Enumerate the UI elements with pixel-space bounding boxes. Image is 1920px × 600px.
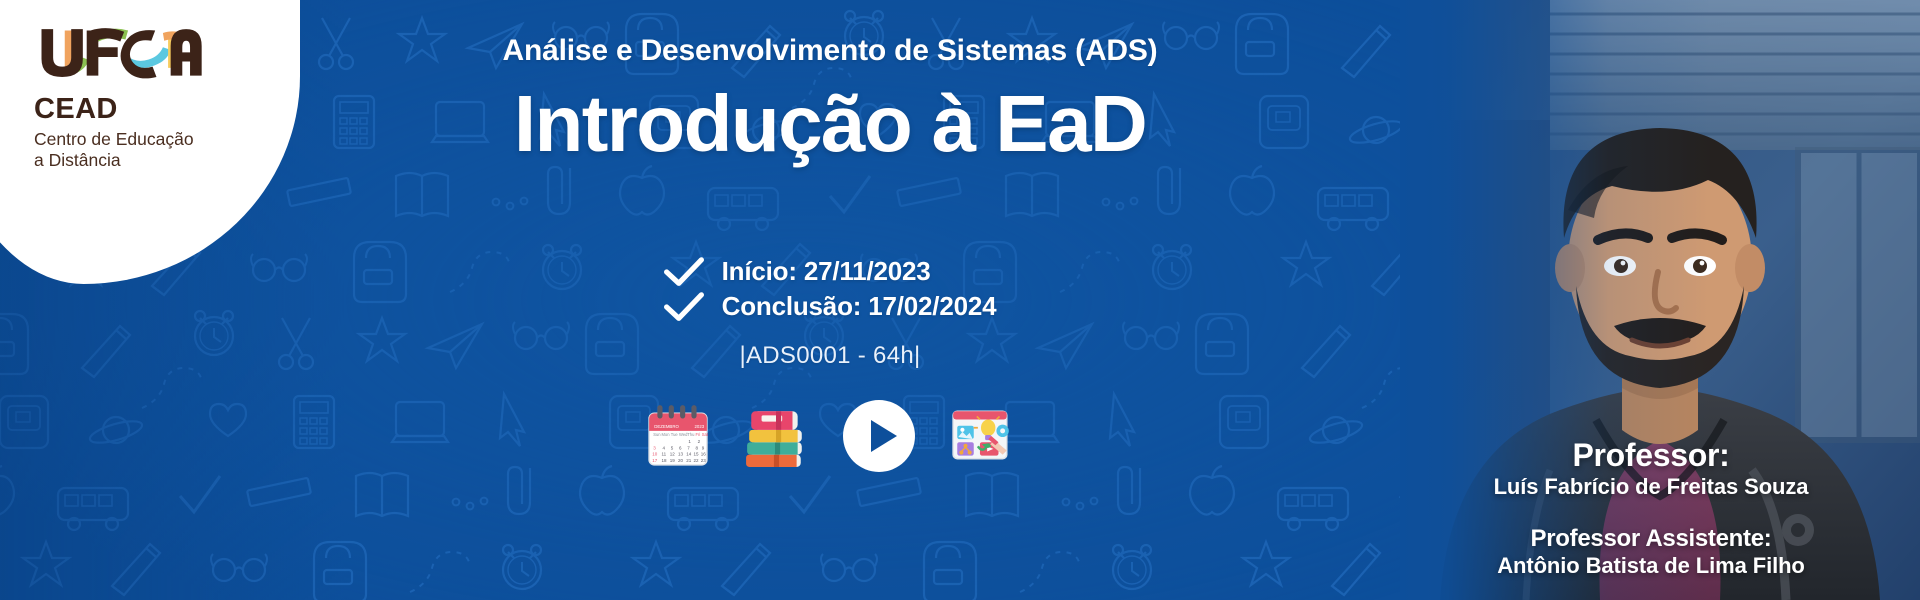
svg-text:Thu: Thu xyxy=(687,432,695,437)
svg-text:Tue: Tue xyxy=(671,432,679,437)
cead-acronym: CEAD xyxy=(34,95,254,124)
course-banner: CEAD Centro de Educação a Distância Anál… xyxy=(0,0,1920,600)
assistant-role-label: Professor Assistente: xyxy=(1400,526,1902,551)
end-date-label: Conclusão: 17/02/2024 xyxy=(722,291,997,322)
schedule-row-end: Conclusão: 17/02/2024 xyxy=(664,291,997,322)
books-icon xyxy=(743,403,809,469)
presentation-board-icon xyxy=(949,403,1015,469)
course-info-column: Análise e Desenvolvimento de Sistemas (A… xyxy=(300,0,1360,600)
professor-photo-panel: Professor: Luís Fabrício de Freitas Souz… xyxy=(1400,0,1920,600)
play-button-icon[interactable] xyxy=(841,398,917,474)
credits-spacer xyxy=(1400,500,1902,526)
svg-text:DEZEMBRO: DEZEMBRO xyxy=(654,424,679,429)
svg-text:18: 18 xyxy=(662,458,668,463)
svg-text:23: 23 xyxy=(701,458,707,463)
svg-text:2023: 2023 xyxy=(695,424,705,429)
svg-text:12: 12 xyxy=(670,452,676,457)
cead-name-line-2: a Distância xyxy=(34,150,121,170)
svg-text:16: 16 xyxy=(701,452,707,457)
check-icon xyxy=(664,257,704,287)
svg-text:20: 20 xyxy=(678,458,684,463)
svg-text:11: 11 xyxy=(662,452,667,457)
svg-text:Mon: Mon xyxy=(662,432,671,437)
professor-role-label: Professor: xyxy=(1400,439,1902,473)
svg-text:Sat: Sat xyxy=(702,432,709,437)
course-schedule: Início: 27/11/2023 Conclusão: 17/02/2024 xyxy=(664,256,997,322)
cead-name-line-1: Centro de Educação xyxy=(34,129,194,149)
course-title: Introdução à EaD xyxy=(514,84,1146,164)
ufca-logo-icon xyxy=(34,24,204,86)
svg-text:Fri: Fri xyxy=(696,432,701,437)
svg-text:21: 21 xyxy=(686,458,692,463)
calendar-icon: DEZEMBRO2023 SunMonTue WedThu FriSat 12 … xyxy=(645,403,711,469)
start-date-label: Início: 27/11/2023 xyxy=(722,256,931,287)
svg-text:22: 22 xyxy=(693,458,699,463)
course-resource-icons: DEZEMBRO2023 SunMonTue WedThu FriSat 12 … xyxy=(645,398,1015,474)
course-program-label: Análise e Desenvolvimento de Sistemas (A… xyxy=(503,34,1158,68)
check-icon xyxy=(664,292,704,322)
schedule-row-start: Início: 27/11/2023 xyxy=(664,256,997,287)
svg-text:17: 17 xyxy=(652,458,658,463)
course-code-label: |ADS0001 - 64h| xyxy=(739,342,920,370)
svg-text:10: 10 xyxy=(652,452,658,457)
svg-text:15: 15 xyxy=(693,452,699,457)
svg-text:14: 14 xyxy=(686,452,692,457)
svg-text:19: 19 xyxy=(670,458,676,463)
professor-name: Luís Fabrício de Freitas Souza xyxy=(1400,475,1902,499)
staff-credits: Professor: Luís Fabrício de Freitas Souz… xyxy=(1400,439,1902,578)
assistant-name: Antônio Batista de Lima Filho xyxy=(1400,554,1902,578)
cead-full-name: Centro de Educação a Distância xyxy=(34,129,204,172)
svg-text:13: 13 xyxy=(678,452,684,457)
institution-logo: CEAD Centro de Educação a Distância xyxy=(34,24,254,172)
svg-text:Sun: Sun xyxy=(653,432,661,437)
